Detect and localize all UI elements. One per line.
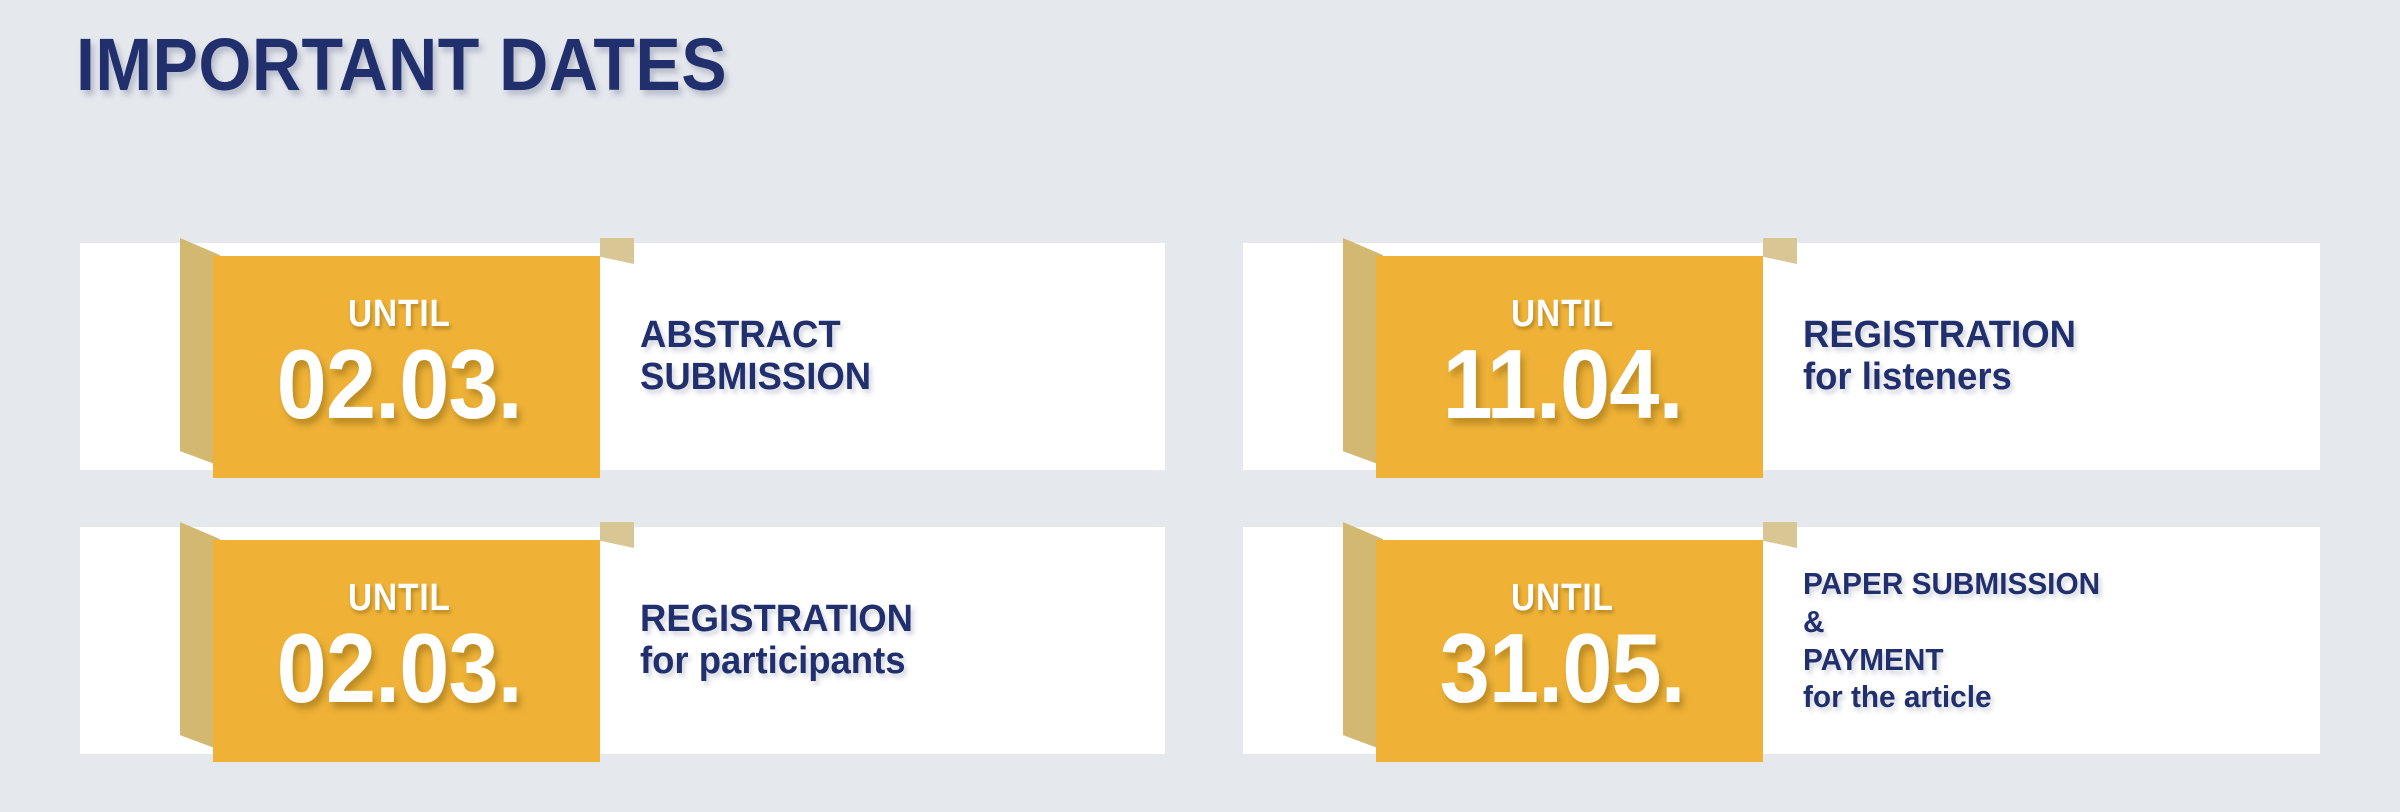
card-label-line: REGISTRATION	[640, 599, 1125, 640]
ribbon-content: UNTIL 31.05.	[1376, 540, 1763, 762]
deadline-date: 31.05.	[1440, 619, 1685, 717]
until-label: UNTIL	[348, 579, 451, 617]
card-label-line: &	[1803, 603, 2280, 641]
card-label-line: for the article	[1803, 678, 2280, 716]
date-card-registration-participants[interactable]: UNTIL 02.03. REGISTRATION for participan…	[80, 527, 1165, 754]
until-label: UNTIL	[1511, 579, 1614, 617]
card-label-line: ABSTRACT	[640, 315, 1125, 356]
card-label-line: PAYMENT	[1803, 641, 2280, 679]
ribbon-banner: UNTIL 02.03.	[180, 238, 600, 478]
card-label: REGISTRATION for participants	[640, 527, 1145, 754]
card-label-line: PAPER SUBMISSION	[1803, 565, 2280, 603]
ribbon-content: UNTIL 02.03.	[213, 256, 600, 478]
date-card-registration-listeners[interactable]: UNTIL 11.04. REGISTRATION for listeners	[1243, 243, 2320, 470]
card-label: ABSTRACT SUBMISSION	[640, 243, 1145, 470]
deadline-date: 02.03.	[277, 619, 522, 717]
important-dates-grid: UNTIL 02.03. ABSTRACT SUBMISSION UNTIL 1…	[0, 0, 2400, 812]
card-label: PAPER SUBMISSION & PAYMENT for the artic…	[1803, 527, 2300, 754]
card-label-line: for listeners	[1803, 357, 2280, 398]
deadline-date: 11.04.	[1442, 335, 1682, 433]
card-label: REGISTRATION for listeners	[1803, 243, 2300, 470]
date-card-paper-submission-payment[interactable]: UNTIL 31.05. PAPER SUBMISSION & PAYMENT …	[1243, 527, 2320, 754]
ribbon-banner: UNTIL 02.03.	[180, 522, 600, 762]
ribbon-content: UNTIL 02.03.	[213, 540, 600, 762]
card-label-line: REGISTRATION	[1803, 315, 2280, 356]
ribbon-banner: UNTIL 11.04.	[1343, 238, 1763, 478]
card-label-line: for participants	[640, 641, 1125, 682]
card-label-line: SUBMISSION	[640, 357, 1125, 398]
until-label: UNTIL	[348, 295, 451, 333]
deadline-date: 02.03.	[277, 335, 522, 433]
ribbon-content: UNTIL 11.04.	[1376, 256, 1763, 478]
date-card-abstract-submission[interactable]: UNTIL 02.03. ABSTRACT SUBMISSION	[80, 243, 1165, 470]
until-label: UNTIL	[1511, 295, 1614, 333]
ribbon-banner: UNTIL 31.05.	[1343, 522, 1763, 762]
